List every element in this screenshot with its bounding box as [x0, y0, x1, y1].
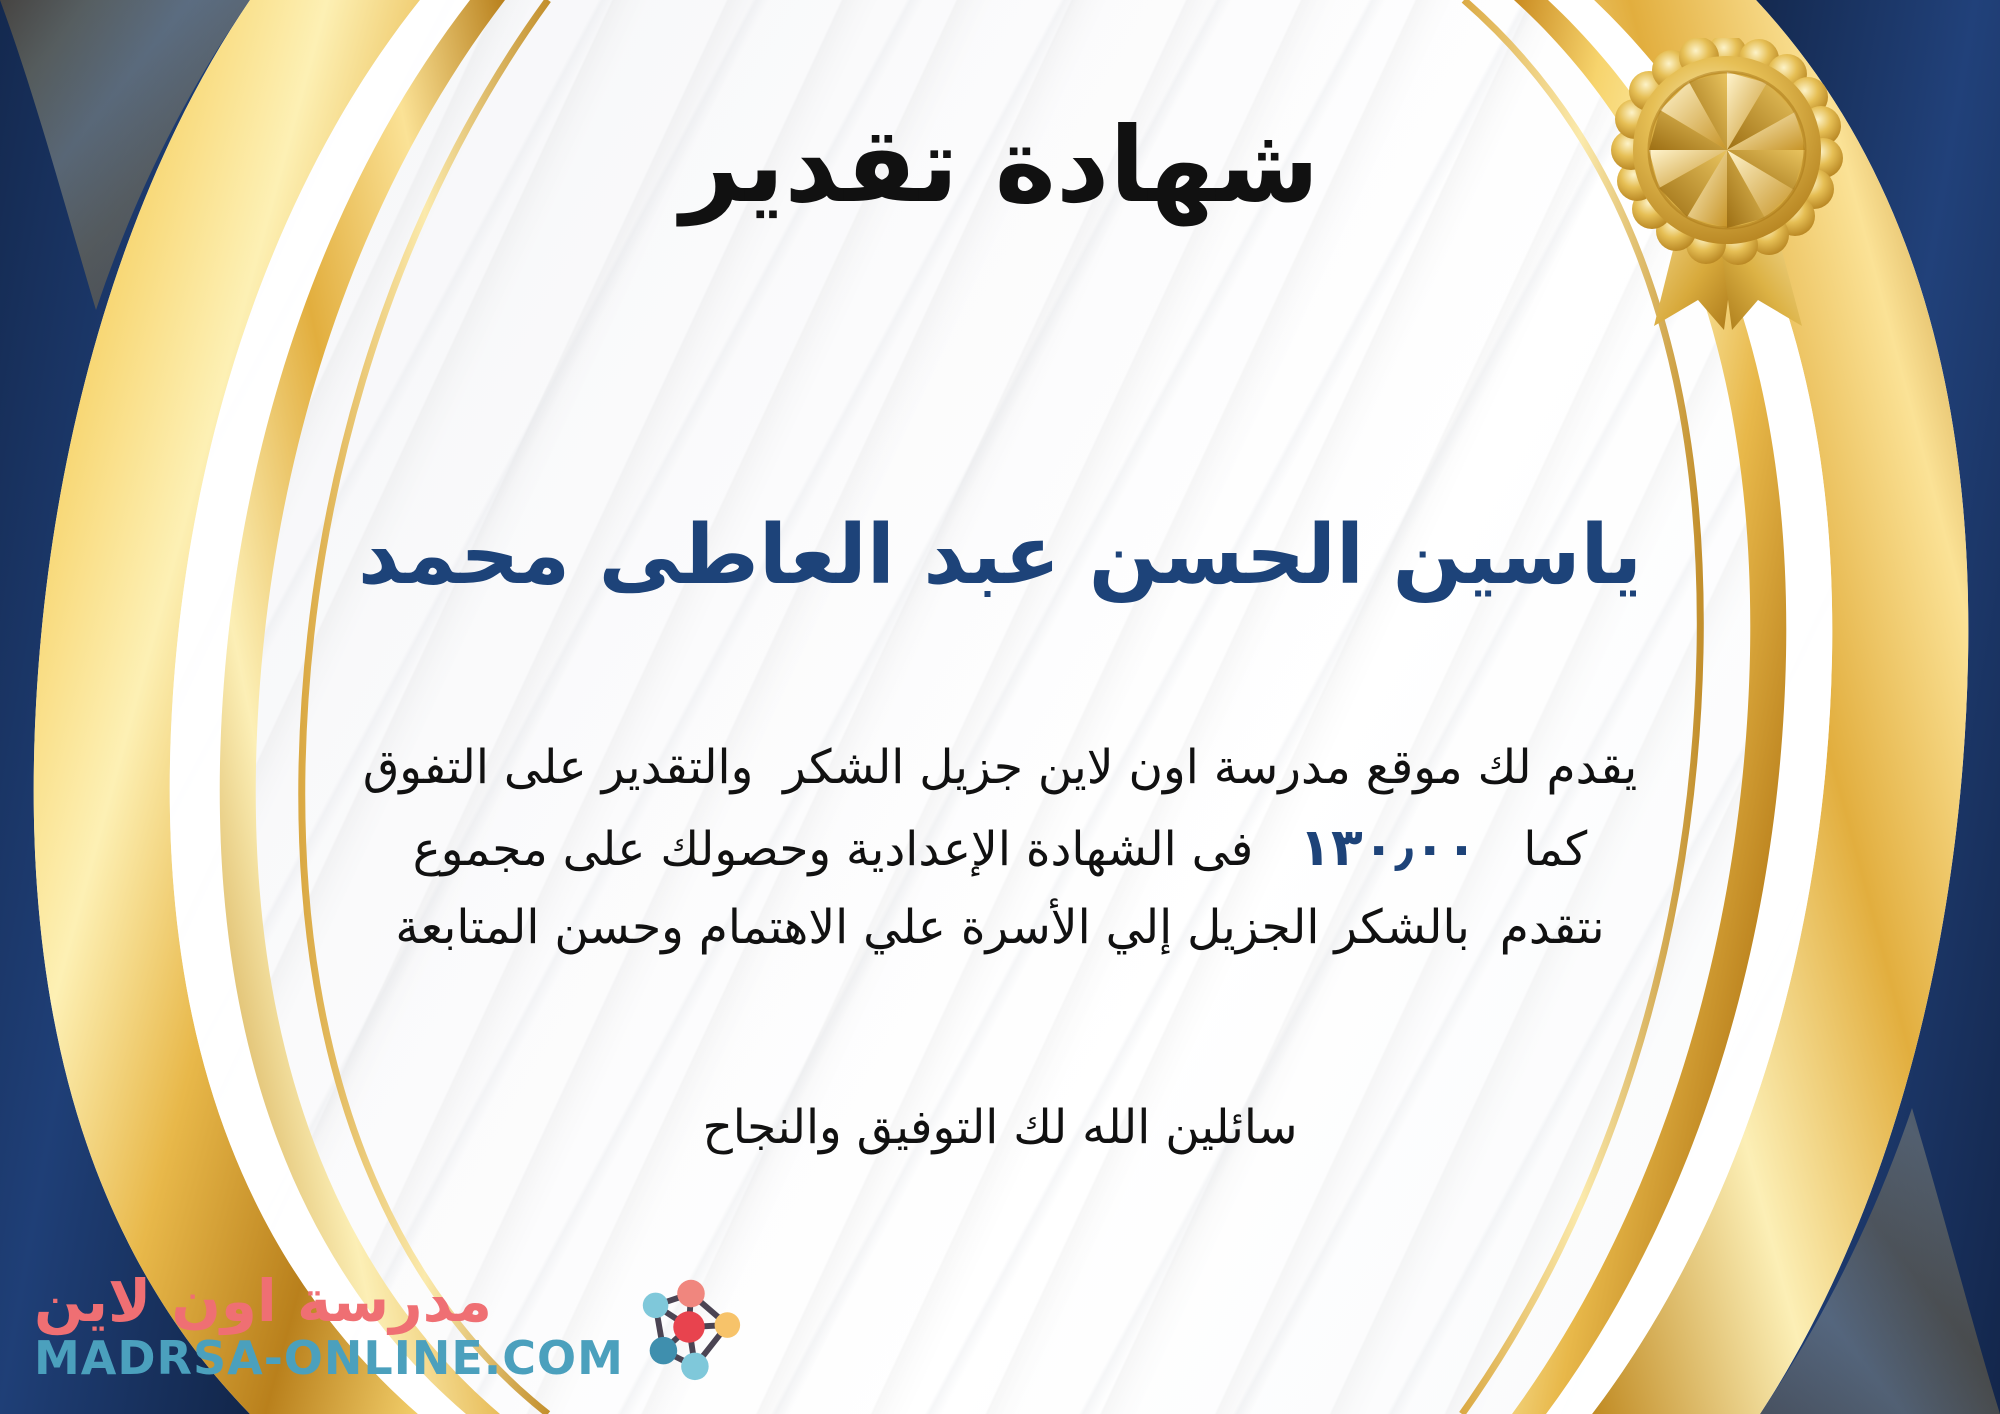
network-nodes-icon: [630, 1268, 748, 1386]
logo-english-text: MADRSA-ONLINE.COM: [34, 1334, 624, 1382]
body-line-2-suffix: كما: [1523, 812, 1587, 888]
body-line-2-prefix: فى الشهادة الإعدادية وحصولك على مجموع: [413, 812, 1254, 888]
body-line-3: نتقدم بالشكر الجزيل إلي الأسرة علي الاهت…: [60, 890, 1940, 966]
grade-value: ١٣٠٫٠٠: [1253, 806, 1523, 890]
recipient-name: ياسين الحسن عبد العاطى محمد: [120, 510, 1880, 602]
site-logo[interactable]: مدرسة اون لاين MADRSA-ONLINE.COM: [34, 1268, 748, 1386]
body-line-1: يقدم لك موقع مدرسة اون لاين جزيل الشكر و…: [60, 730, 1940, 806]
certificate-body: يقدم لك موقع مدرسة اون لاين جزيل الشكر و…: [60, 730, 1940, 966]
logo-arabic-text: مدرسة اون لاين: [34, 1272, 492, 1330]
certificate-page: شهادة تقدير ياسين الحسن عبد العاطى محمد …: [0, 0, 2000, 1414]
body-line-2: كما ١٣٠٫٠٠ فى الشهادة الإعدادية وحصولك ع…: [60, 806, 1940, 890]
page-title: شهادة تقدير: [0, 108, 2000, 222]
certificate-content: شهادة تقدير ياسين الحسن عبد العاطى محمد …: [0, 0, 2000, 1414]
logo-text-block: مدرسة اون لاين MADRSA-ONLINE.COM: [34, 1272, 624, 1382]
closing-line: سائلين الله لك التوفيق والنجاح: [0, 1100, 2000, 1155]
